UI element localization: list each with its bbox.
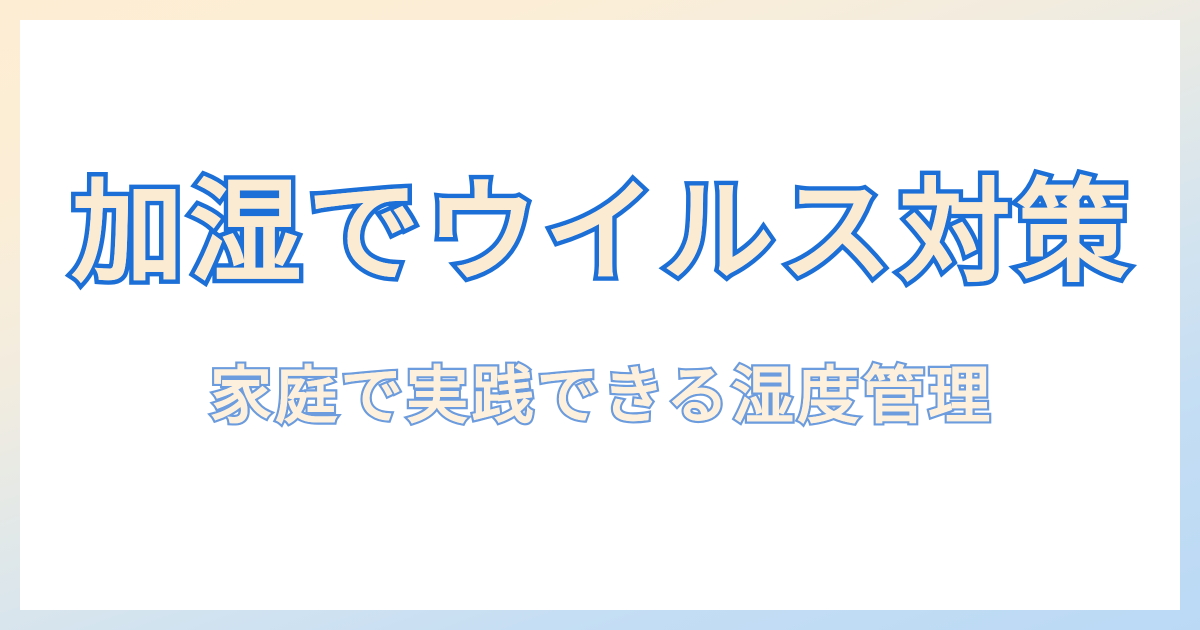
poster-canvas: 加湿でウイルス対策 加湿でウイルス対策 家庭で実践できる湿度管理 家庭で実践でき… [0, 0, 1200, 630]
page-subtitle: 家庭で実践できる湿度管理 [20, 348, 1180, 444]
white-content-panel: 加湿でウイルス対策 加湿でウイルス対策 家庭で実践できる湿度管理 家庭で実践でき… [20, 20, 1180, 610]
subtitle-block: 家庭で実践できる湿度管理 家庭で実践できる湿度管理 [20, 348, 1180, 444]
title-block: 加湿でウイルス対策 加湿でウイルス対策 [20, 158, 1180, 308]
text-stack: 加湿でウイルス対策 加湿でウイルス対策 家庭で実践できる湿度管理 家庭で実践でき… [20, 158, 1180, 444]
page-title: 加湿でウイルス対策 [20, 158, 1180, 308]
